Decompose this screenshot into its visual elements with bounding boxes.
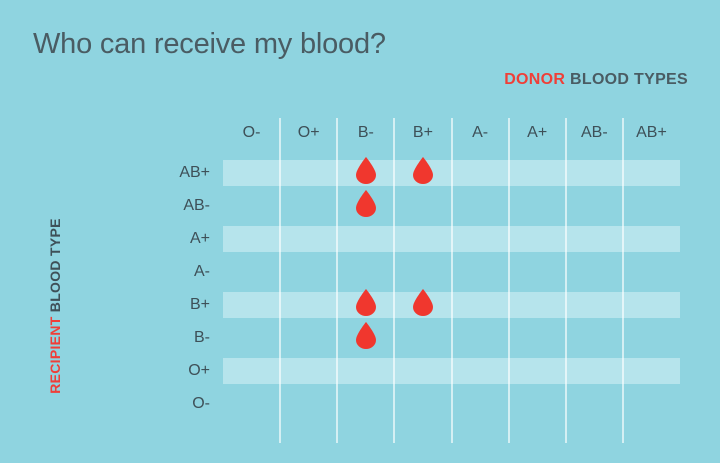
row-label-Oneg: O- [130,394,210,414]
column-header-Oneg: O- [223,118,280,156]
column-header-Apos: A+ [509,118,566,156]
row-label-ABpos: AB+ [130,163,210,183]
column-header-row: O-O+B-B+A-A+AB-AB+ [223,118,680,156]
column-header-Bpos: B+ [394,118,451,156]
row-band-Opos [223,358,680,384]
blood-compatibility-infographic: Who can receive my blood? DONOR BLOOD TY… [0,0,720,463]
recipient-blood-type-axis-label: RECIPIENT BLOOD TYPE [47,206,63,406]
column-header-Aneg: A- [452,118,509,156]
row-label-Bpos: B+ [130,295,210,315]
column-header-Opos: O+ [280,118,337,156]
page-title: Who can receive my blood? [33,28,386,61]
compatibility-grid: O-O+B-B+A-A+AB-AB+ [223,118,680,443]
recipient-axis-highlight: RECIPIENT [47,316,63,393]
row-label-Aneg: A- [130,262,210,282]
row-label-Apos: A+ [130,229,210,249]
row-label-Bneg: B- [130,328,210,348]
row-band-ABpos [223,160,680,186]
row-band-Apos [223,226,680,252]
donor-blood-types-header: DONOR BLOOD TYPES [504,71,688,89]
row-label-ABneg: AB- [130,196,210,216]
row-bands [223,160,680,424]
recipient-axis-rest: BLOOD TYPE [47,218,63,316]
donor-header-rest: BLOOD TYPES [565,71,688,88]
column-header-Bneg: B- [337,118,394,156]
row-label-Opos: O+ [130,361,210,381]
column-header-ABneg: AB- [566,118,623,156]
row-label-column: AB+AB-A+A-B+B-O+O- [130,160,210,424]
donor-header-highlight: DONOR [504,71,565,88]
column-header-ABpos: AB+ [623,118,680,156]
row-band-Bpos [223,292,680,318]
